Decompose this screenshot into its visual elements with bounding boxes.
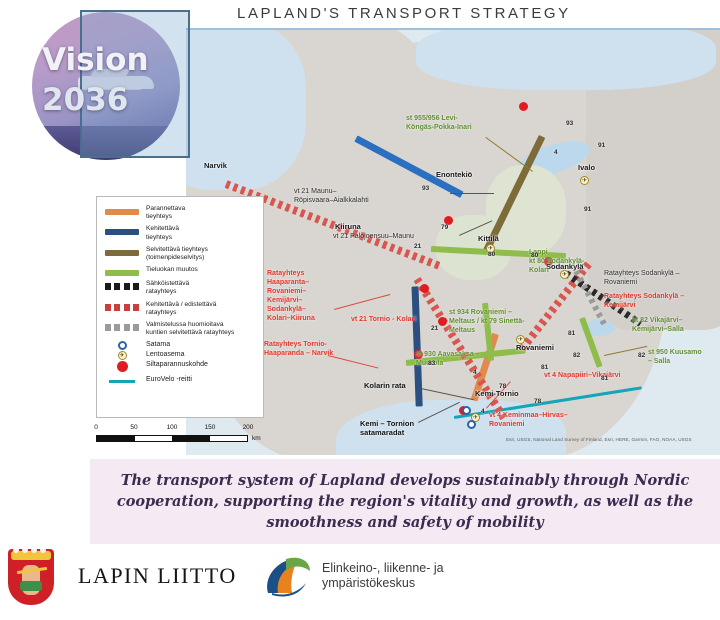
scalebar-tick: 50	[130, 424, 137, 431]
map-city-label: Narvik	[204, 161, 227, 170]
legend-item-satama: Satama	[105, 341, 257, 350]
map-route-number: 78	[534, 398, 541, 405]
harbor-icon	[105, 341, 139, 350]
legend-item-label: Satama	[146, 341, 170, 349]
legend-item-kehitettava-tieyhteys: Kehitettävätieyhteys	[105, 225, 257, 241]
poster-root: LAPLAND'S TRANSPORT STRATEGY	[0, 0, 720, 620]
scalebar-tick: 100	[167, 424, 178, 431]
map-annotation-ratayhteys-haaparanta: RatayhteysHaaparanta–Rovaniemi–Kemijärvi…	[267, 269, 315, 323]
map-annotation-vt4-napapiiri: vt 4 Napapiiri–Vikajärvi	[544, 371, 621, 380]
map-annotation-st934-rovaniemi-meltaus: st 934 Rovaniemi –Meltaus / kt 79 Sinett…	[449, 308, 524, 335]
map-route-number: 81	[601, 375, 608, 382]
vision-line-2: 2036	[42, 80, 192, 120]
eurovelo-line-icon-glyph	[109, 380, 135, 383]
map-annotation-ratayhteys-tornio-narvik: Ratayhteys Tornio-Haaparanda – Narvik	[264, 340, 333, 358]
map-city-label: Rovaniemi	[516, 343, 554, 352]
legend-swatch-line-icon	[105, 229, 139, 235]
map-route-number: 91	[598, 142, 605, 149]
map-city-label: Enontekiö	[436, 170, 472, 179]
legend-item-label: Sähköistettäväratayhteys	[146, 280, 189, 296]
bridge-point-icon	[105, 361, 139, 372]
map-annotation-vt21-maunu: vt 21 Maunu–Röpisvaara–Aialkkalahti	[294, 187, 369, 205]
map-city-label: Ivalo	[578, 163, 595, 172]
map-annotation-st955-levi: st 955/956 Levi-Köngäs-Pokka-Inari	[406, 114, 472, 132]
lapin-liitto-wordmark: LAPIN LIITTO	[78, 563, 237, 589]
map-annotation-ratayhteys-sodankyla-rovaniemi: Ratayhteys Sodankylä –Rovaniemi	[604, 269, 680, 287]
bridge-point[interactable]	[519, 102, 528, 111]
vision-line-1: Vision	[42, 40, 192, 80]
legend-item-label: Kehitettävätieyhteys	[146, 225, 179, 241]
airport-icon[interactable]: ✈	[580, 176, 589, 185]
harbor-icon[interactable]	[467, 420, 476, 429]
page-title: LAPLAND'S TRANSPORT STRATEGY	[237, 5, 571, 22]
map-legend: ParannettavatieyhteysKehitettävätieyhtey…	[96, 196, 264, 418]
map-annotation-vt21-palojoensuu: vt 21 Palojoensuu–Maunu	[333, 232, 414, 241]
ely-keskus-label: Elinkeino-, liikenne- jaympäristökeskus	[322, 561, 444, 591]
legend-item-valmistelussa-huomioitava-ratayhteys: Valmistelussa huomioitavakuntien selvite…	[105, 321, 257, 337]
ely-keskus-line: ympäristökeskus	[322, 576, 444, 591]
legend-item-label: EuroVelo -reitti	[146, 376, 192, 384]
map-route-number: 81	[541, 364, 548, 371]
map-city-label: Kemi-Tornio	[475, 389, 519, 398]
map-route-number: 82	[638, 352, 645, 359]
legend-line-items: ParannettavatieyhteysKehitettävätieyhtey…	[105, 205, 257, 337]
legend-item-label: Kehitettävä / edistettäväratayhteys	[146, 301, 216, 317]
map-attribution: Esri, USGS, National Land Survey of Finl…	[506, 437, 692, 442]
scalebar-bar	[96, 435, 248, 442]
map-scalebar: 050100150200 km	[96, 424, 264, 448]
map-route-number: 4	[554, 149, 558, 156]
lapland-coat-of-arms-icon	[8, 549, 54, 605]
legend-item-parannettava-tieyhteys: Parannettavatieyhteys	[105, 205, 257, 221]
map-route-number: 21	[431, 325, 438, 332]
legend-swatch-line-icon	[105, 209, 139, 215]
map-annotation-vt21-tornio-kolari: vt 21 Tornio - Kolari	[351, 315, 416, 324]
legend-swatch-line-icon	[105, 270, 139, 276]
map-annotation-vt4-keminmaa-hirvas: vt 4 Keminmaa–Hirvas–Rovaniemi	[489, 411, 568, 429]
legend-item-label: Valmistelussa huomioitavakuntien selvite…	[146, 321, 234, 337]
scalebar-tick: 150	[205, 424, 216, 431]
map-annotation-st930-aavasaksa: st 930 Aavasaksa –Muurola	[416, 350, 480, 368]
map-annotation-ratayhteys-sodankyla-kemijarvi: Ratayhteys Sodankylä –Kemijärvi	[604, 292, 684, 310]
ely-keskus-logo-icon	[262, 553, 314, 601]
scalebar-ticks: 050100150200	[96, 424, 264, 433]
legend-item-label: Parannettavatieyhteys	[146, 205, 185, 221]
scalebar-unit: km	[252, 435, 261, 442]
leader-line	[450, 193, 494, 194]
airport-icon: ✈	[105, 351, 139, 360]
map-route-number: 93	[422, 185, 429, 192]
legend-swatch-dash-icon	[105, 324, 139, 331]
bridge-point-icon-glyph	[117, 361, 128, 372]
vision-text: Vision 2036	[42, 40, 192, 120]
map-route-number: 93	[566, 120, 573, 127]
map-route-number: 91	[584, 206, 591, 213]
legend-item-label: Tieluokan muutos	[146, 266, 198, 274]
map-annotation-st950-kuusamo-salla: st 950 Kuusamo– Salla	[648, 348, 702, 366]
skirt-shape	[20, 581, 42, 591]
legend-item-label: Selvitettävä tieyhteys(toimenpideselvity…	[146, 246, 208, 262]
sea-barents	[416, 30, 716, 90]
airport-icon-glyph: ✈	[118, 351, 127, 360]
map-route-number: 83	[428, 360, 435, 367]
map-city-label: Kiiruna	[335, 222, 361, 231]
legend-item-siltaparannuskohde: Siltaparannuskohde	[105, 361, 257, 372]
legend-item-selvitettava-tieyhteys: Selvitettävä tieyhteys(toimenpideselvity…	[105, 246, 257, 262]
map-route-number: 78	[499, 383, 506, 390]
footer: LAPIN LIITTO Elinkeino-, liikenne- jaymp…	[0, 545, 720, 620]
vision-statement-text: The transport system of Lapland develops…	[105, 470, 705, 533]
harbor-icon-glyph	[118, 341, 127, 350]
map-route-number: 82	[573, 352, 580, 359]
legend-symbol-items: Satama✈LentoasemaSiltaparannuskohdeEuroV…	[105, 341, 257, 384]
legend-item-eurovelo-reitti: EuroVelo -reitti	[105, 376, 257, 384]
map-city-label: Kittilä	[478, 234, 499, 243]
legend-swatch-dash-icon	[105, 304, 139, 311]
scalebar-tick: 0	[94, 424, 98, 431]
legend-item-lentoasema: ✈Lentoasema	[105, 351, 257, 360]
legend-item-label: Lentoasema	[146, 351, 185, 359]
bridge-point[interactable]	[420, 284, 429, 293]
crown-shape	[11, 551, 51, 560]
bridge-point[interactable]	[438, 317, 447, 326]
scalebar-tick: 200	[243, 424, 254, 431]
ely-keskus-line: Elinkeino-, liikenne- ja	[322, 561, 444, 576]
harbor-icon[interactable]	[462, 406, 471, 415]
legend-swatch-dash-icon	[105, 283, 139, 290]
legend-item-label: Siltaparannuskohde	[146, 361, 208, 369]
map-route-number: 80	[531, 252, 538, 259]
map-route-number: 4	[473, 369, 477, 376]
map-route-number: 4	[481, 408, 485, 415]
map-route-number: 21	[414, 243, 421, 250]
map-route-number: 79	[441, 224, 448, 231]
map-annotation-kt82-vikajarvi-salla: kt 82 Vikajärvi–Kemijärvi–Salla	[632, 316, 684, 334]
map-annotation-kemi-tornion-satamaradat: Kemi – Tornionsatamaradat	[360, 419, 414, 437]
legend-item-tieluokan-muutos: Tieluokan muutos	[105, 266, 257, 276]
vision-statement-banner: The transport system of Lapland develops…	[90, 459, 720, 544]
legend-item-kehitettava-edistettava-ratayhteys: Kehitettävä / edistettäväratayhteys	[105, 301, 257, 317]
map-route-number: 81	[568, 330, 575, 337]
legend-item-sahkoistettava-ratayhteys: Sähköistettäväratayhteys	[105, 280, 257, 296]
eurovelo-line-icon	[105, 376, 139, 383]
map-route-number: 80	[488, 251, 495, 258]
map-panel[interactable]: ✈ ✈ ✈ ✈ ✈ NarvikKiirunaEnontekiöKittiläI…	[186, 30, 720, 455]
legend-swatch-line-icon	[105, 250, 139, 256]
map-annotation-kolarin-rata: Kolarin rata	[364, 381, 406, 390]
